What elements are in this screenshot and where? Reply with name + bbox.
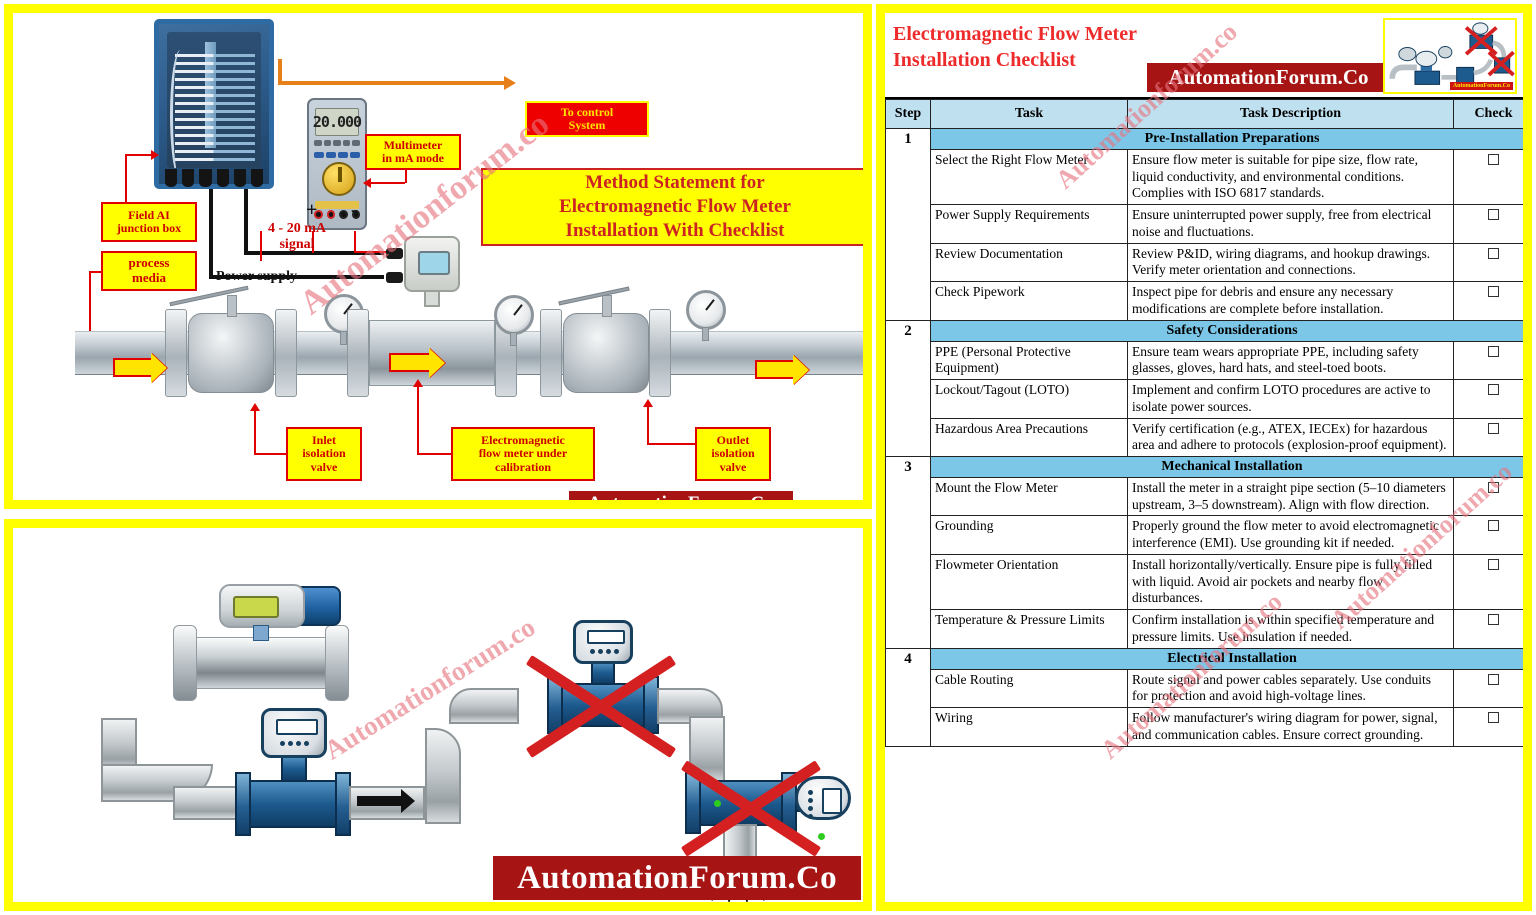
transmitter-neck: [424, 290, 440, 307]
wrong1-screen: [587, 630, 625, 644]
checklist-section-row: 3Mechanical Installation: [886, 457, 1524, 478]
checklist-task-row: Check PipeworkInspect pipe for debris an…: [886, 282, 1524, 320]
checkbox[interactable]: [1488, 712, 1499, 723]
step-number-cell: 3: [886, 457, 931, 649]
flow-meter-leader-arrow: [413, 379, 423, 387]
checklist-task-row: GroundingProperly ground the flow meter …: [886, 516, 1524, 554]
checklist-task-row: WiringFollow manufacturer's wiring diagr…: [886, 708, 1524, 746]
field-ai-leader-v: [125, 154, 127, 203]
correct-flow-meter-body: [249, 780, 339, 828]
task-check-cell[interactable]: [1454, 341, 1524, 379]
inlet-valve-line1: Inlet: [312, 434, 336, 447]
to-control-system-line2: System: [569, 119, 606, 132]
outlet-valve-leader-h: [647, 443, 695, 445]
transmitter-port-bottom: [386, 272, 403, 283]
outlet-valve-line2: isolation: [711, 447, 754, 460]
minus-symbol: -: [351, 199, 358, 221]
flow-transmitter: [394, 232, 470, 307]
checklist-header: Electromagnetic Flow Meter Installation …: [885, 13, 1523, 99]
flange-2: [275, 309, 297, 397]
title-line-2: Electromagnetic Flow Meter: [559, 195, 791, 219]
flow-meter-photo: [161, 581, 371, 721]
checkbox[interactable]: [1488, 154, 1499, 165]
multimeter-rotary-dial: [322, 162, 356, 196]
process-media-line2: media: [132, 271, 166, 286]
flow-direction-arrow-meter: [389, 353, 431, 372]
cable-glands: [165, 169, 263, 189]
multimeter-leader-v: [405, 170, 407, 183]
step-number-cell: 4: [886, 648, 931, 746]
task-check-cell[interactable]: [1454, 243, 1524, 281]
task-check-cell[interactable]: [1454, 380, 1524, 418]
outlet-valve-line1: Outlet: [717, 434, 750, 447]
task-check-cell[interactable]: [1454, 610, 1524, 648]
task-name-cell: Grounding: [931, 516, 1128, 554]
process-media-leader-h: [89, 271, 101, 273]
inlet-valve-leader-v: [254, 409, 256, 453]
column-header-description: Task Description: [1128, 100, 1454, 129]
column-header-task: Task: [931, 100, 1128, 129]
task-check-cell[interactable]: [1454, 150, 1524, 205]
checklist-task-row: Mount the Flow MeterInstall the meter in…: [886, 478, 1524, 516]
checklist-brand-banner: AutomationForum.Co: [1147, 63, 1390, 92]
field-junction-box-image: [154, 19, 274, 189]
outlet-valve-lever: [558, 287, 629, 306]
multimeter-leader-arrow: [363, 178, 371, 188]
inlet-valve-leader-arrow: [250, 403, 260, 411]
meter-flange-left: [173, 625, 197, 701]
checklist-task-row: Lockout/Tagout (LOTO)Implement and confi…: [886, 380, 1524, 418]
multimeter-leader-h: [371, 182, 405, 184]
correct-meter-neck: [281, 756, 307, 782]
control-system-arrow: [504, 76, 516, 90]
task-check-cell[interactable]: [1454, 282, 1524, 320]
section-title-cell: Mechanical Installation: [931, 457, 1524, 478]
column-header-step: Step: [886, 100, 931, 129]
checklist-section-row: 1Pre-Installation Preparations: [886, 129, 1524, 150]
control-system-line-horizontal: [278, 81, 506, 85]
section-title-cell: Pre-Installation Preparations: [931, 129, 1524, 150]
checklist-section-row: 2Safety Considerations: [886, 320, 1524, 341]
pressure-gauge-3: [686, 290, 726, 330]
task-name-cell: Review Documentation: [931, 243, 1128, 281]
multimeter-display: 20.000: [315, 108, 359, 136]
inlet-pipe-horizontal: [173, 786, 239, 820]
task-name-cell: Lockout/Tagout (LOTO): [931, 380, 1128, 418]
power-supply-text: Power supply: [216, 269, 297, 284]
task-description-cell: Ensure team wears appropriate PPE, inclu…: [1128, 341, 1454, 379]
flange-5: [540, 309, 562, 397]
meter-converter-neck: [253, 625, 269, 641]
task-description-cell: Install the meter in a straight pipe sec…: [1128, 478, 1454, 516]
control-system-line-vertical: [278, 59, 282, 83]
multimeter-label: Multimeter in mA mode: [365, 134, 461, 170]
checklist-task-row: PPE (Personal Protective Equipment)Ensur…: [886, 341, 1524, 379]
wrong2-status-dot-2: [818, 833, 825, 840]
outlet-valve-leader-v: [647, 405, 649, 443]
wrong1-pipe-elbow-left: [449, 688, 519, 724]
section-title-cell: Electrical Installation: [931, 648, 1524, 669]
checklist-section-row: 4Electrical Installation: [886, 648, 1524, 669]
multimeter-label-line2: in mA mode: [382, 152, 444, 165]
wrong1-cross-mark: [515, 646, 687, 756]
checkbox[interactable]: [1488, 384, 1499, 395]
flow-meter-leader-v: [417, 385, 419, 453]
power-supply-label: Power supply: [216, 269, 297, 285]
plus-symbol: +: [306, 199, 317, 221]
installation-checklist-table: Step Task Task Description Check 1Pre-In…: [885, 99, 1523, 747]
checkbox[interactable]: [1488, 520, 1499, 531]
task-check-cell[interactable]: [1454, 708, 1524, 746]
task-check-cell[interactable]: [1454, 516, 1524, 554]
task-name-cell: Select the Right Flow Meter: [931, 150, 1128, 205]
outlet-valve-stem: [602, 295, 612, 317]
power-supply-wire-v1: [209, 189, 213, 278]
mA-loop-wire-right: [354, 231, 356, 253]
step-number-cell: 1: [886, 129, 931, 321]
inlet-valve-line2: isolation: [302, 447, 345, 460]
checkbox[interactable]: [1488, 482, 1499, 493]
polarity-minus: -: [351, 199, 358, 222]
flow-meter-line2: flow meter under: [479, 447, 567, 460]
process-media-leader-v: [89, 271, 91, 333]
task-check-cell[interactable]: [1454, 478, 1524, 516]
meter-converter-head: [219, 584, 305, 628]
correct-meter-converter-head: [261, 708, 327, 758]
checklist-task-row: Review DocumentationReview P&ID, wiring …: [886, 243, 1524, 281]
pressure-gauge-3-stem: [702, 327, 709, 341]
to-control-system-label: To control System: [525, 101, 649, 137]
task-check-cell[interactable]: [1454, 418, 1524, 456]
task-name-cell: Mount the Flow Meter: [931, 478, 1128, 516]
process-media-label: process media: [101, 251, 197, 291]
task-name-cell: Wiring: [931, 708, 1128, 746]
flow-meter-leader-h: [417, 453, 451, 455]
task-check-cell[interactable]: [1454, 669, 1524, 707]
title-line-1: Method Statement for: [585, 171, 764, 195]
inlet-isolation-valve-label: Inlet isolation valve: [286, 427, 362, 481]
task-check-cell[interactable]: [1454, 205, 1524, 243]
task-description-cell: Properly ground the flow meter to avoid …: [1128, 516, 1454, 554]
task-name-cell: Power Supply Requirements: [931, 205, 1128, 243]
task-check-cell[interactable]: [1454, 554, 1524, 609]
column-header-check: Check: [1454, 100, 1524, 129]
meter-tube: [185, 637, 335, 689]
outlet-valve-line3: valve: [720, 461, 747, 474]
field-ai-label-line1: Field AI: [128, 209, 170, 222]
wrong1-pipe-riser-left: [425, 728, 461, 824]
correct-meter-buttons: [280, 741, 309, 746]
checklist-task-row: Select the Right Flow MeterEnsure flow m…: [886, 150, 1524, 205]
flow-direction-arrow-inlet: [113, 358, 153, 377]
process-media-line1: process: [129, 256, 170, 271]
task-name-cell: Flowmeter Orientation: [931, 554, 1128, 609]
to-control-system-line1: To control: [561, 106, 613, 119]
pressure-gauge-2: [494, 295, 534, 335]
checkbox[interactable]: [1488, 674, 1499, 685]
checklist-title-line2: Installation Checklist: [893, 47, 1137, 73]
checkbox[interactable]: [1488, 286, 1499, 297]
illustration-brand-footer: AutomationForum.Co: [493, 856, 861, 900]
task-name-cell: Cable Routing: [931, 669, 1128, 707]
task-description-cell: Review P&ID, wiring diagrams, and hookup…: [1128, 243, 1454, 281]
flange-6: [649, 309, 671, 397]
outlet-isolation-valve-body: [563, 313, 649, 393]
task-name-cell: Temperature & Pressure Limits: [931, 610, 1128, 648]
checkbox[interactable]: [1488, 423, 1499, 434]
pressure-gauge-1-stem: [340, 331, 347, 345]
inlet-isolation-valve-body: [188, 313, 274, 393]
diagram-stage: To control System Method Statement for E…: [13, 13, 863, 500]
method-statement-title-box: Method Statement for Electromagnetic Flo…: [481, 168, 863, 246]
field-ai-leader-h: [125, 154, 153, 156]
junction-box-wires: [170, 50, 196, 168]
meter-flange-right: [325, 625, 349, 701]
task-description-cell: Install horizontally/vertically. Ensure …: [1128, 554, 1454, 609]
checklist-header-row: Step Task Task Description Check: [886, 100, 1524, 129]
signal-label: 4 - 20 mA signal: [244, 221, 350, 252]
flow-meter-label: Electromagnetic flow meter under calibra…: [451, 427, 595, 481]
task-description-cell: Route signal and power cables separately…: [1128, 669, 1454, 707]
flow-meter-line1: Electromagnetic: [481, 434, 565, 447]
installation-checklist-panel: Electromagnetic Flow Meter Installation …: [876, 4, 1532, 911]
pressure-gauge-2-stem: [510, 332, 517, 346]
junction-box-interior: [167, 32, 261, 168]
checkbox[interactable]: [1488, 209, 1499, 220]
illustration-stage: Automationforum.co AutomationForum.Co: [13, 528, 863, 902]
signal-label-line2: signal: [244, 237, 350, 253]
outlet-valve-leader-arrow: [643, 399, 653, 407]
checklist-stage: Electromagnetic Flow Meter Installation …: [885, 13, 1523, 902]
checklist-task-row: Cable RoutingRoute signal and power cabl…: [886, 669, 1524, 707]
task-description-cell: Ensure flow meter is suitable for pipe s…: [1128, 150, 1454, 205]
inlet-valve-stem: [227, 295, 237, 317]
title-line-3: Installation With Checklist: [566, 219, 785, 243]
outlet-isolation-valve-label: Outlet isolation valve: [695, 427, 771, 481]
logo-brand-tag: AutomationForum.Co: [1450, 82, 1513, 90]
diagram-brand-footer: AutomationForum.Co: [569, 491, 793, 500]
checklist-body: 1Pre-Installation PreparationsSelect the…: [886, 129, 1524, 747]
signal-label-line1: 4 - 20 mA: [244, 221, 350, 237]
flange-3: [347, 309, 369, 397]
transmitter-display: [418, 251, 450, 275]
flow-meter-line3: calibration: [495, 461, 551, 474]
checkbox[interactable]: [1488, 248, 1499, 259]
task-description-cell: Inspect pipe for debris and ensure any n…: [1128, 282, 1454, 320]
installation-orientation-illustration-panel: Automationforum.co AutomationForum.Co: [4, 519, 872, 911]
correct-meter-screen: [276, 719, 318, 735]
method-statement-diagram-panel: To control System Method Statement for E…: [4, 4, 872, 509]
transmitter-port-top: [386, 248, 403, 259]
checklist-task-row: Temperature & Pressure LimitsConfirm ins…: [886, 610, 1524, 648]
multimeter-label-line1: Multimeter: [384, 139, 443, 152]
correct-flow-direction-arrow: [357, 796, 401, 806]
wrong2-status-dot-1: [714, 800, 721, 807]
page-root: To control System Method Statement for E…: [0, 0, 1536, 915]
task-description-cell: Verify certification (e.g., ATEX, IECEx)…: [1128, 418, 1454, 456]
section-title-cell: Safety Considerations: [931, 320, 1524, 341]
task-description-cell: Ensure uninterrupted power supply, free …: [1128, 205, 1454, 243]
flange-1: [165, 309, 187, 397]
checklist-logo-thumbnail: AutomationForum.Co: [1383, 18, 1517, 94]
task-name-cell: Hazardous Area Precautions: [931, 418, 1128, 456]
transmitter-housing: [404, 236, 460, 292]
field-ai-label-line2: junction box: [117, 222, 181, 235]
meter-converter-display: [233, 596, 279, 618]
task-description-cell: Confirm installation is within specified…: [1128, 610, 1454, 648]
task-description-cell: Implement and confirm LOTO procedures ar…: [1128, 380, 1454, 418]
checkbox[interactable]: [1488, 346, 1499, 357]
inlet-valve-line3: valve: [311, 461, 338, 474]
checklist-title: Electromagnetic Flow Meter Installation …: [893, 21, 1137, 73]
step-number-cell: 2: [886, 320, 931, 456]
task-description-cell: Follow manufacturer's wiring diagram for…: [1128, 708, 1454, 746]
task-name-cell: Check Pipework: [931, 282, 1128, 320]
inlet-valve-leader-h: [254, 453, 286, 455]
mA-loop-wire-bottom: [354, 251, 388, 253]
field-ai-leader-arrow: [151, 150, 159, 160]
polarity-plus: +: [306, 199, 317, 222]
task-name-cell: PPE (Personal Protective Equipment): [931, 341, 1128, 379]
flow-direction-arrow-outlet: [755, 360, 795, 379]
field-ai-junction-box-label: Field AI junction box: [101, 202, 197, 242]
checkbox[interactable]: [1488, 614, 1499, 625]
wrong2-cross-mark: [671, 750, 831, 856]
checklist-title-line1: Electromagnetic Flow Meter: [893, 21, 1137, 47]
checkbox[interactable]: [1488, 559, 1499, 570]
checklist-task-row: Power Supply RequirementsEnsure uninterr…: [886, 205, 1524, 243]
checklist-task-row: Hazardous Area PrecautionsVerify certifi…: [886, 418, 1524, 456]
checklist-task-row: Flowmeter OrientationInstall horizontall…: [886, 554, 1524, 609]
